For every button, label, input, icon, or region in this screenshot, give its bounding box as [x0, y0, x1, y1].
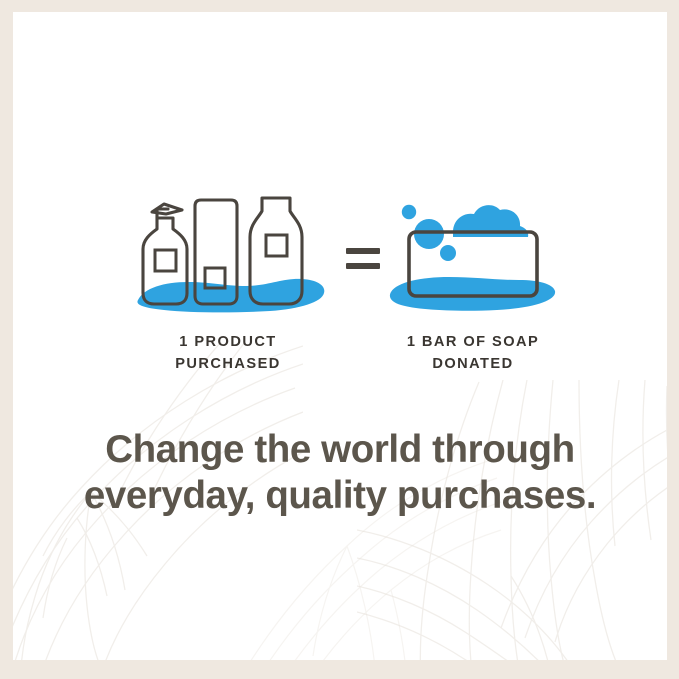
bubble-small-inner [440, 245, 456, 261]
bubble-small-upper [402, 205, 416, 219]
palm-frond-watermark-right [357, 380, 667, 660]
infographic-page: 1 PRODUCT PURCHASED [0, 0, 679, 679]
product-caption: 1 PRODUCT PURCHASED [118, 332, 338, 375]
round-shoulder-bottle-label [266, 235, 287, 256]
soap-column: 1 BAR OF SOAP DONATED [363, 192, 583, 375]
equation-row: 1 PRODUCT PURCHASED [13, 192, 667, 377]
soap-bar-icon [387, 192, 559, 314]
product-bottles-icon [130, 192, 326, 314]
soap-caption: 1 BAR OF SOAP DONATED [363, 332, 583, 375]
water-puddle-shape [137, 279, 324, 312]
product-column: 1 PRODUCT PURCHASED [118, 192, 338, 375]
infographic-canvas: 1 PRODUCT PURCHASED [13, 12, 667, 660]
headline-text: Change the world through everyday, quali… [13, 427, 667, 519]
pump-bottle-label [155, 250, 176, 271]
soap-icon-slot [363, 192, 583, 314]
bubble-large [414, 219, 444, 249]
product-icon-slot [118, 192, 338, 314]
water-puddle-shape [390, 277, 555, 311]
